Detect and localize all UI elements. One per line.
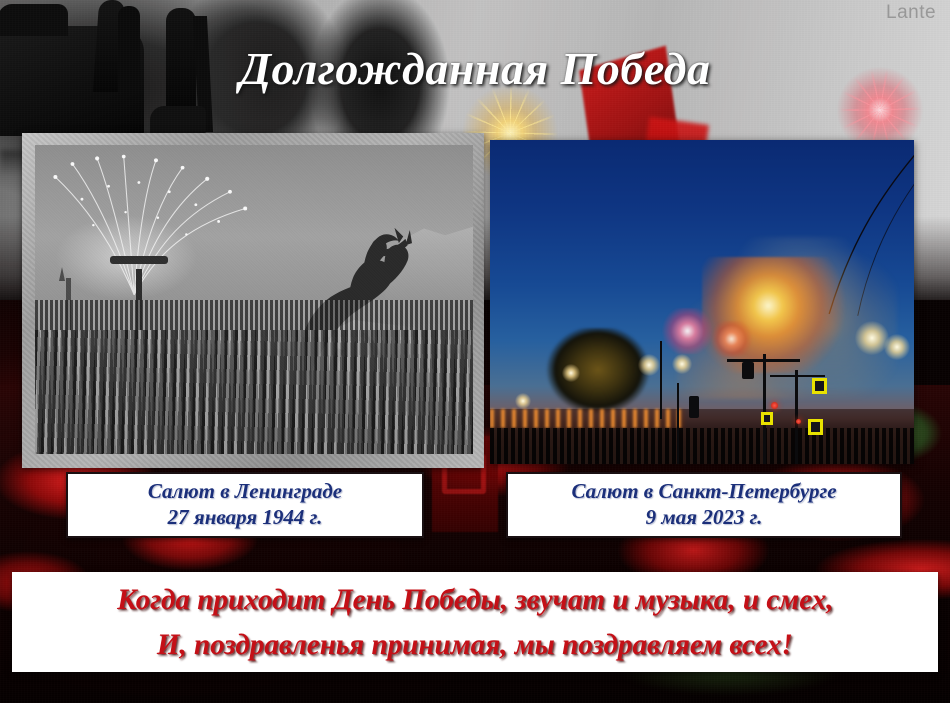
traffic-pole-2	[795, 370, 798, 464]
leningrad-salute-photo	[35, 145, 473, 454]
traffic-crossbar-2	[770, 375, 825, 377]
traffic-crossbar-1	[727, 359, 799, 362]
photo-grain-overlay	[35, 145, 473, 454]
caption-text-leningrad: Салют в Ленинграде 27 января 1944 г.	[148, 479, 342, 530]
watermark-label: Lante	[886, 2, 936, 24]
verse-line-1: Когда приходит День Победы, звучат и муз…	[117, 577, 833, 622]
traffic-pole-1	[763, 354, 766, 464]
caption-text-spb: Салют в Санкт-Петербурге 9 мая 2023 г.	[571, 479, 836, 530]
crowd-silhouettes	[490, 428, 914, 464]
caption-line-2: 27 января 1944 г.	[148, 505, 342, 531]
traffic-red-light-2	[796, 419, 801, 424]
sign-pole-1	[677, 383, 679, 464]
distant-street-lights	[490, 409, 685, 428]
traffic-light-box-2	[689, 396, 699, 418]
verse-box: Когда приходит День Победы, звучат и муз…	[12, 572, 938, 672]
caption-box-leningrad: Салют в Ленинграде 27 января 1944 г.	[66, 472, 424, 538]
lamp-pole-1	[660, 341, 662, 419]
pink-firework-burst	[660, 308, 715, 353]
traffic-light-box-1	[742, 362, 754, 379]
caption-line-2: 9 мая 2023 г.	[571, 505, 836, 531]
pedestrian-crossing-sign-2	[808, 419, 823, 435]
caption-line-1: Салют в Ленинграде	[148, 479, 342, 505]
autumn-tree	[541, 328, 655, 419]
orange-firework-burst	[710, 321, 752, 357]
pedestrian-crossing-sign-1	[812, 378, 827, 394]
page-title: Долгожданная Победа	[0, 42, 950, 95]
leningrad-salute-photo-frame	[22, 133, 484, 468]
victory-day-slide: Lante Долгожданная Победа	[0, 0, 950, 703]
pedestrian-crossing-sign-3	[761, 412, 773, 425]
street-light-glow-5	[562, 364, 580, 382]
spb-salute-photo	[490, 140, 914, 464]
caption-line-1: Салют в Санкт-Петербурге	[571, 479, 836, 505]
caption-box-spb: Салют в Санкт-Петербурге 9 мая 2023 г.	[506, 472, 902, 538]
verse-line-2: И, поздравленья принимая, мы поздравляем…	[157, 622, 793, 667]
